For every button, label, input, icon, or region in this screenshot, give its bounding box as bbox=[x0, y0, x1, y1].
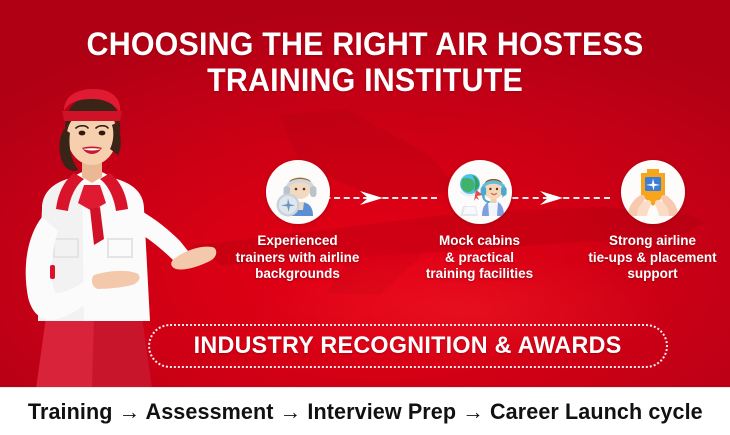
step-label: Strong airline tie-ups & placement suppo… bbox=[570, 233, 730, 283]
step-experienced-trainers[interactable]: Experienced trainers with airline backgr… bbox=[215, 155, 380, 283]
bottom-process-strip: Training → Assessment → Interview Prep →… bbox=[0, 387, 730, 435]
step-label: Mock cabins & practical training facilit… bbox=[397, 233, 562, 283]
air-hostess-presenting bbox=[2, 89, 217, 389]
process-flow-text: Training → Assessment → Interview Prep →… bbox=[28, 399, 703, 425]
step-label: Experienced trainers with airline backgr… bbox=[215, 233, 380, 283]
trainer-with-headset-icon bbox=[266, 160, 330, 224]
banner-text: INDUSTRY RECOGNITION & AWARDS bbox=[194, 332, 622, 360]
step-airline-tieups[interactable]: Strong airline tie-ups & placement suppo… bbox=[570, 155, 730, 283]
industry-recognition-banner[interactable]: INDUSTRY RECOGNITION & AWARDS bbox=[148, 324, 668, 368]
steps-row: Experienced trainers with airline backgr… bbox=[215, 155, 730, 295]
step-mock-cabins[interactable]: Mock cabins & practical training facilit… bbox=[397, 155, 562, 283]
cabin-crew-training-icon bbox=[448, 160, 512, 224]
infographic-root: CHOOSING THE RIGHT AIR HOSTESS TRAINING … bbox=[0, 0, 730, 435]
hands-holding-airline-badge-icon bbox=[621, 160, 685, 224]
